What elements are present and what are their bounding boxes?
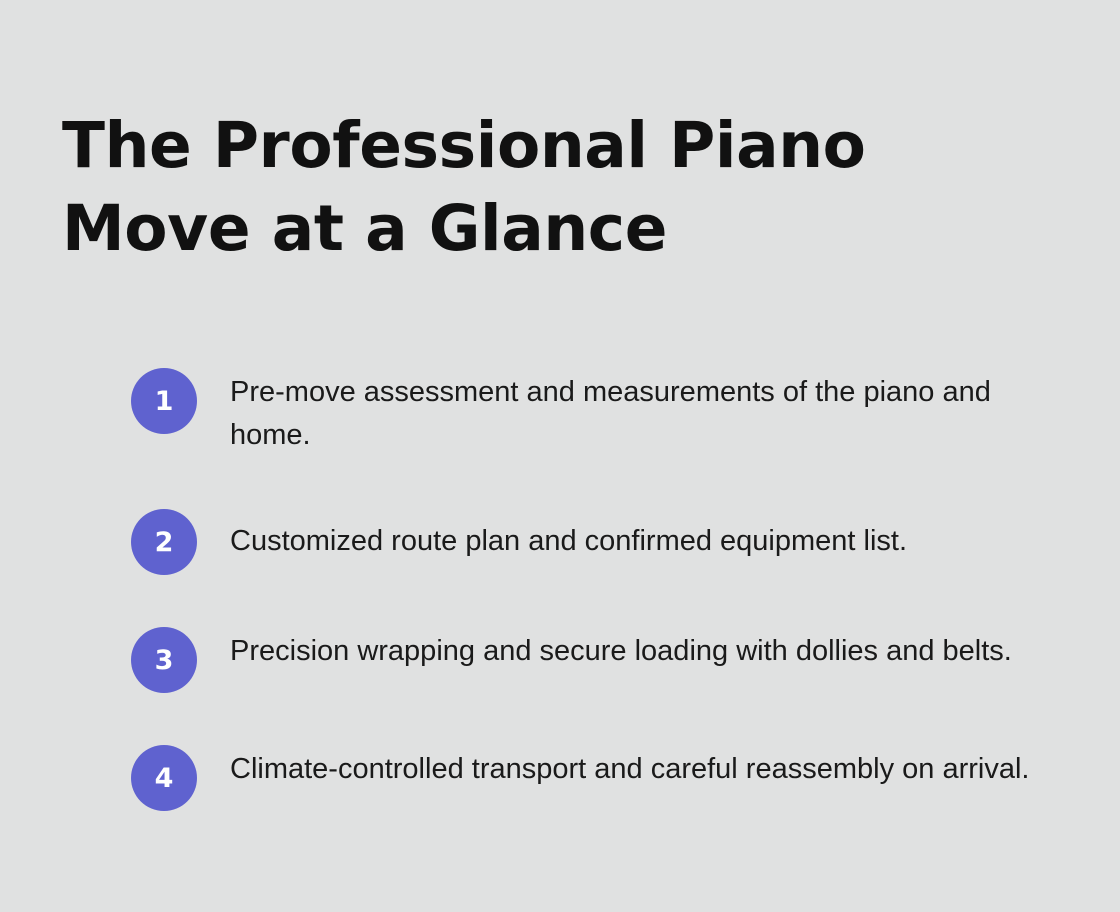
list-item: 3 Precision wrapping and secure loading … bbox=[131, 627, 1061, 693]
step-number-label: 4 bbox=[155, 765, 174, 792]
step-number-label: 1 bbox=[155, 388, 174, 415]
steps-list: 1 Pre-move assessment and measurements o… bbox=[131, 368, 1061, 811]
list-item: 4 Climate-controlled transport and caref… bbox=[131, 745, 1061, 811]
step-number-badge: 2 bbox=[131, 509, 197, 575]
step-number-badge: 1 bbox=[131, 368, 197, 434]
step-number-label: 2 bbox=[155, 529, 174, 556]
step-description: Climate-controlled transport and careful… bbox=[230, 745, 1048, 791]
step-description: Pre-move assessment and measurements of … bbox=[230, 368, 1048, 457]
list-item: 1 Pre-move assessment and measurements o… bbox=[131, 368, 1061, 457]
step-number-badge: 3 bbox=[131, 627, 197, 693]
step-description: Precision wrapping and secure loading wi… bbox=[230, 627, 1048, 673]
page-title: The Professional Piano Move at a Glance bbox=[62, 104, 1062, 270]
list-item: 2 Customized route plan and confirmed eq… bbox=[131, 509, 1061, 575]
step-number-badge: 4 bbox=[131, 745, 197, 811]
infographic-canvas: The Professional Piano Move at a Glance … bbox=[0, 0, 1120, 912]
step-number-label: 3 bbox=[155, 647, 174, 674]
step-description: Customized route plan and confirmed equi… bbox=[230, 509, 1048, 563]
